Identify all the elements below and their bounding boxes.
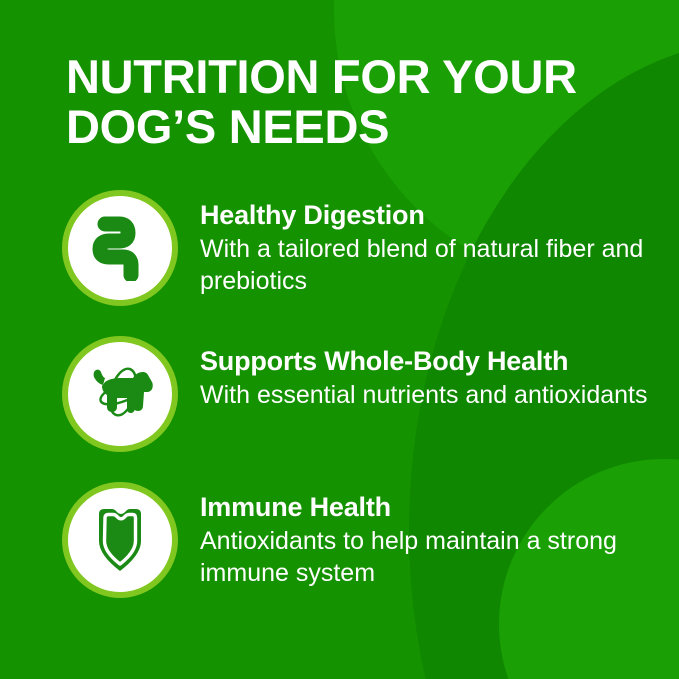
- benefit-text-block: Supports Whole-Body Health With essentia…: [178, 332, 679, 411]
- benefit-text-block: Immune Health Antioxidants to help maint…: [178, 478, 679, 589]
- benefit-description: With essential nutrients and antioxidant…: [200, 379, 679, 411]
- benefit-title: Immune Health: [200, 492, 679, 523]
- benefit-description: Antioxidants to help maintain a strong i…: [200, 525, 679, 589]
- benefit-item-healthy-digestion: Healthy Digestion With a tailored blend …: [0, 186, 679, 306]
- benefit-title: Healthy Digestion: [200, 200, 679, 231]
- benefit-title: Supports Whole-Body Health: [200, 346, 679, 377]
- benefit-icon-badge: [62, 336, 178, 452]
- benefits-list: Healthy Digestion With a tailored blend …: [0, 186, 679, 624]
- dog-atom-icon: [83, 362, 157, 426]
- benefit-item-immune-health: Immune Health Antioxidants to help maint…: [0, 478, 679, 598]
- benefit-icon-badge: [62, 482, 178, 598]
- benefit-icon-badge: [62, 190, 178, 306]
- page-title: NUTRITION FOR YOURDOG’S NEEDS: [66, 52, 626, 153]
- benefit-item-whole-body-health: Supports Whole-Body Health With essentia…: [0, 332, 679, 452]
- intestine-icon: [89, 215, 151, 281]
- benefit-text-block: Healthy Digestion With a tailored blend …: [178, 186, 679, 297]
- nutrition-benefits-infographic: NUTRITION FOR YOURDOG’S NEEDS Healthy Di…: [0, 0, 679, 679]
- page-title-line-1: NUTRITION FOR YOUR: [66, 50, 577, 103]
- benefit-description: With a tailored blend of natural fiber a…: [200, 233, 679, 297]
- page-title-line-2: DOG’S NEEDS: [66, 100, 389, 153]
- shield-icon: [87, 503, 153, 577]
